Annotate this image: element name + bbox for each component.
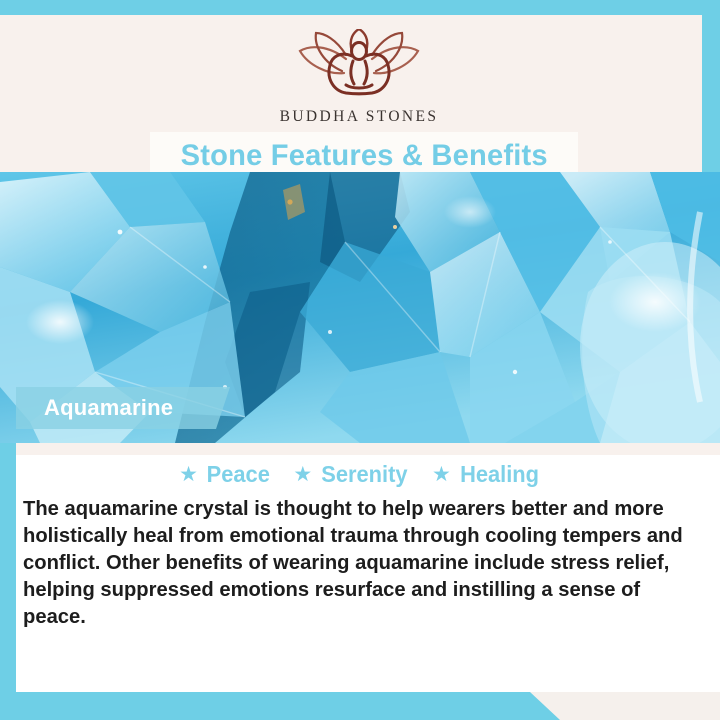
brand-wordmark: BUDDHA STONES [280, 108, 439, 126]
description-paragraph: The aquamarine crystal is thought to hel… [23, 495, 685, 630]
stone-name-banner: Aquamarine [16, 387, 230, 429]
star-icon: ★ [432, 464, 451, 485]
brand-logo: BUDDHA STONES [16, 29, 702, 126]
star-icon: ★ [179, 464, 198, 485]
benefit-item: ★ Peace [179, 461, 271, 488]
benefit-item: ★ Healing [432, 461, 541, 488]
stone-name-label: Aquamarine [44, 395, 173, 421]
benefit-label-healing: Healing [460, 461, 539, 488]
content-top-cream-strip [16, 443, 720, 455]
benefits-row: ★ Peace ★ Serenity ★ Healing [16, 459, 704, 489]
star-icon: ★ [293, 464, 312, 485]
footer-accent-bar [0, 692, 560, 720]
left-edge-accent-strip [0, 443, 16, 720]
header: BUDDHA STONES Stone Features & Benefits [16, 15, 702, 172]
page-title: Stone Features & Benefits [180, 139, 547, 173]
content-section: ★ Peace ★ Serenity ★ Healing The aquamar… [16, 443, 720, 720]
poster-root: BUDDHA STONES Stone Features & Benefits [0, 0, 720, 720]
benefit-label-serenity: Serenity [322, 461, 408, 488]
benefit-item: ★ Serenity [293, 461, 410, 488]
lotus-meditation-icon [284, 29, 434, 103]
benefit-label-peace: Peace [207, 461, 270, 488]
left-edge-cream-strip [0, 15, 16, 175]
crystal-photo: Aquamarine [0, 172, 720, 443]
